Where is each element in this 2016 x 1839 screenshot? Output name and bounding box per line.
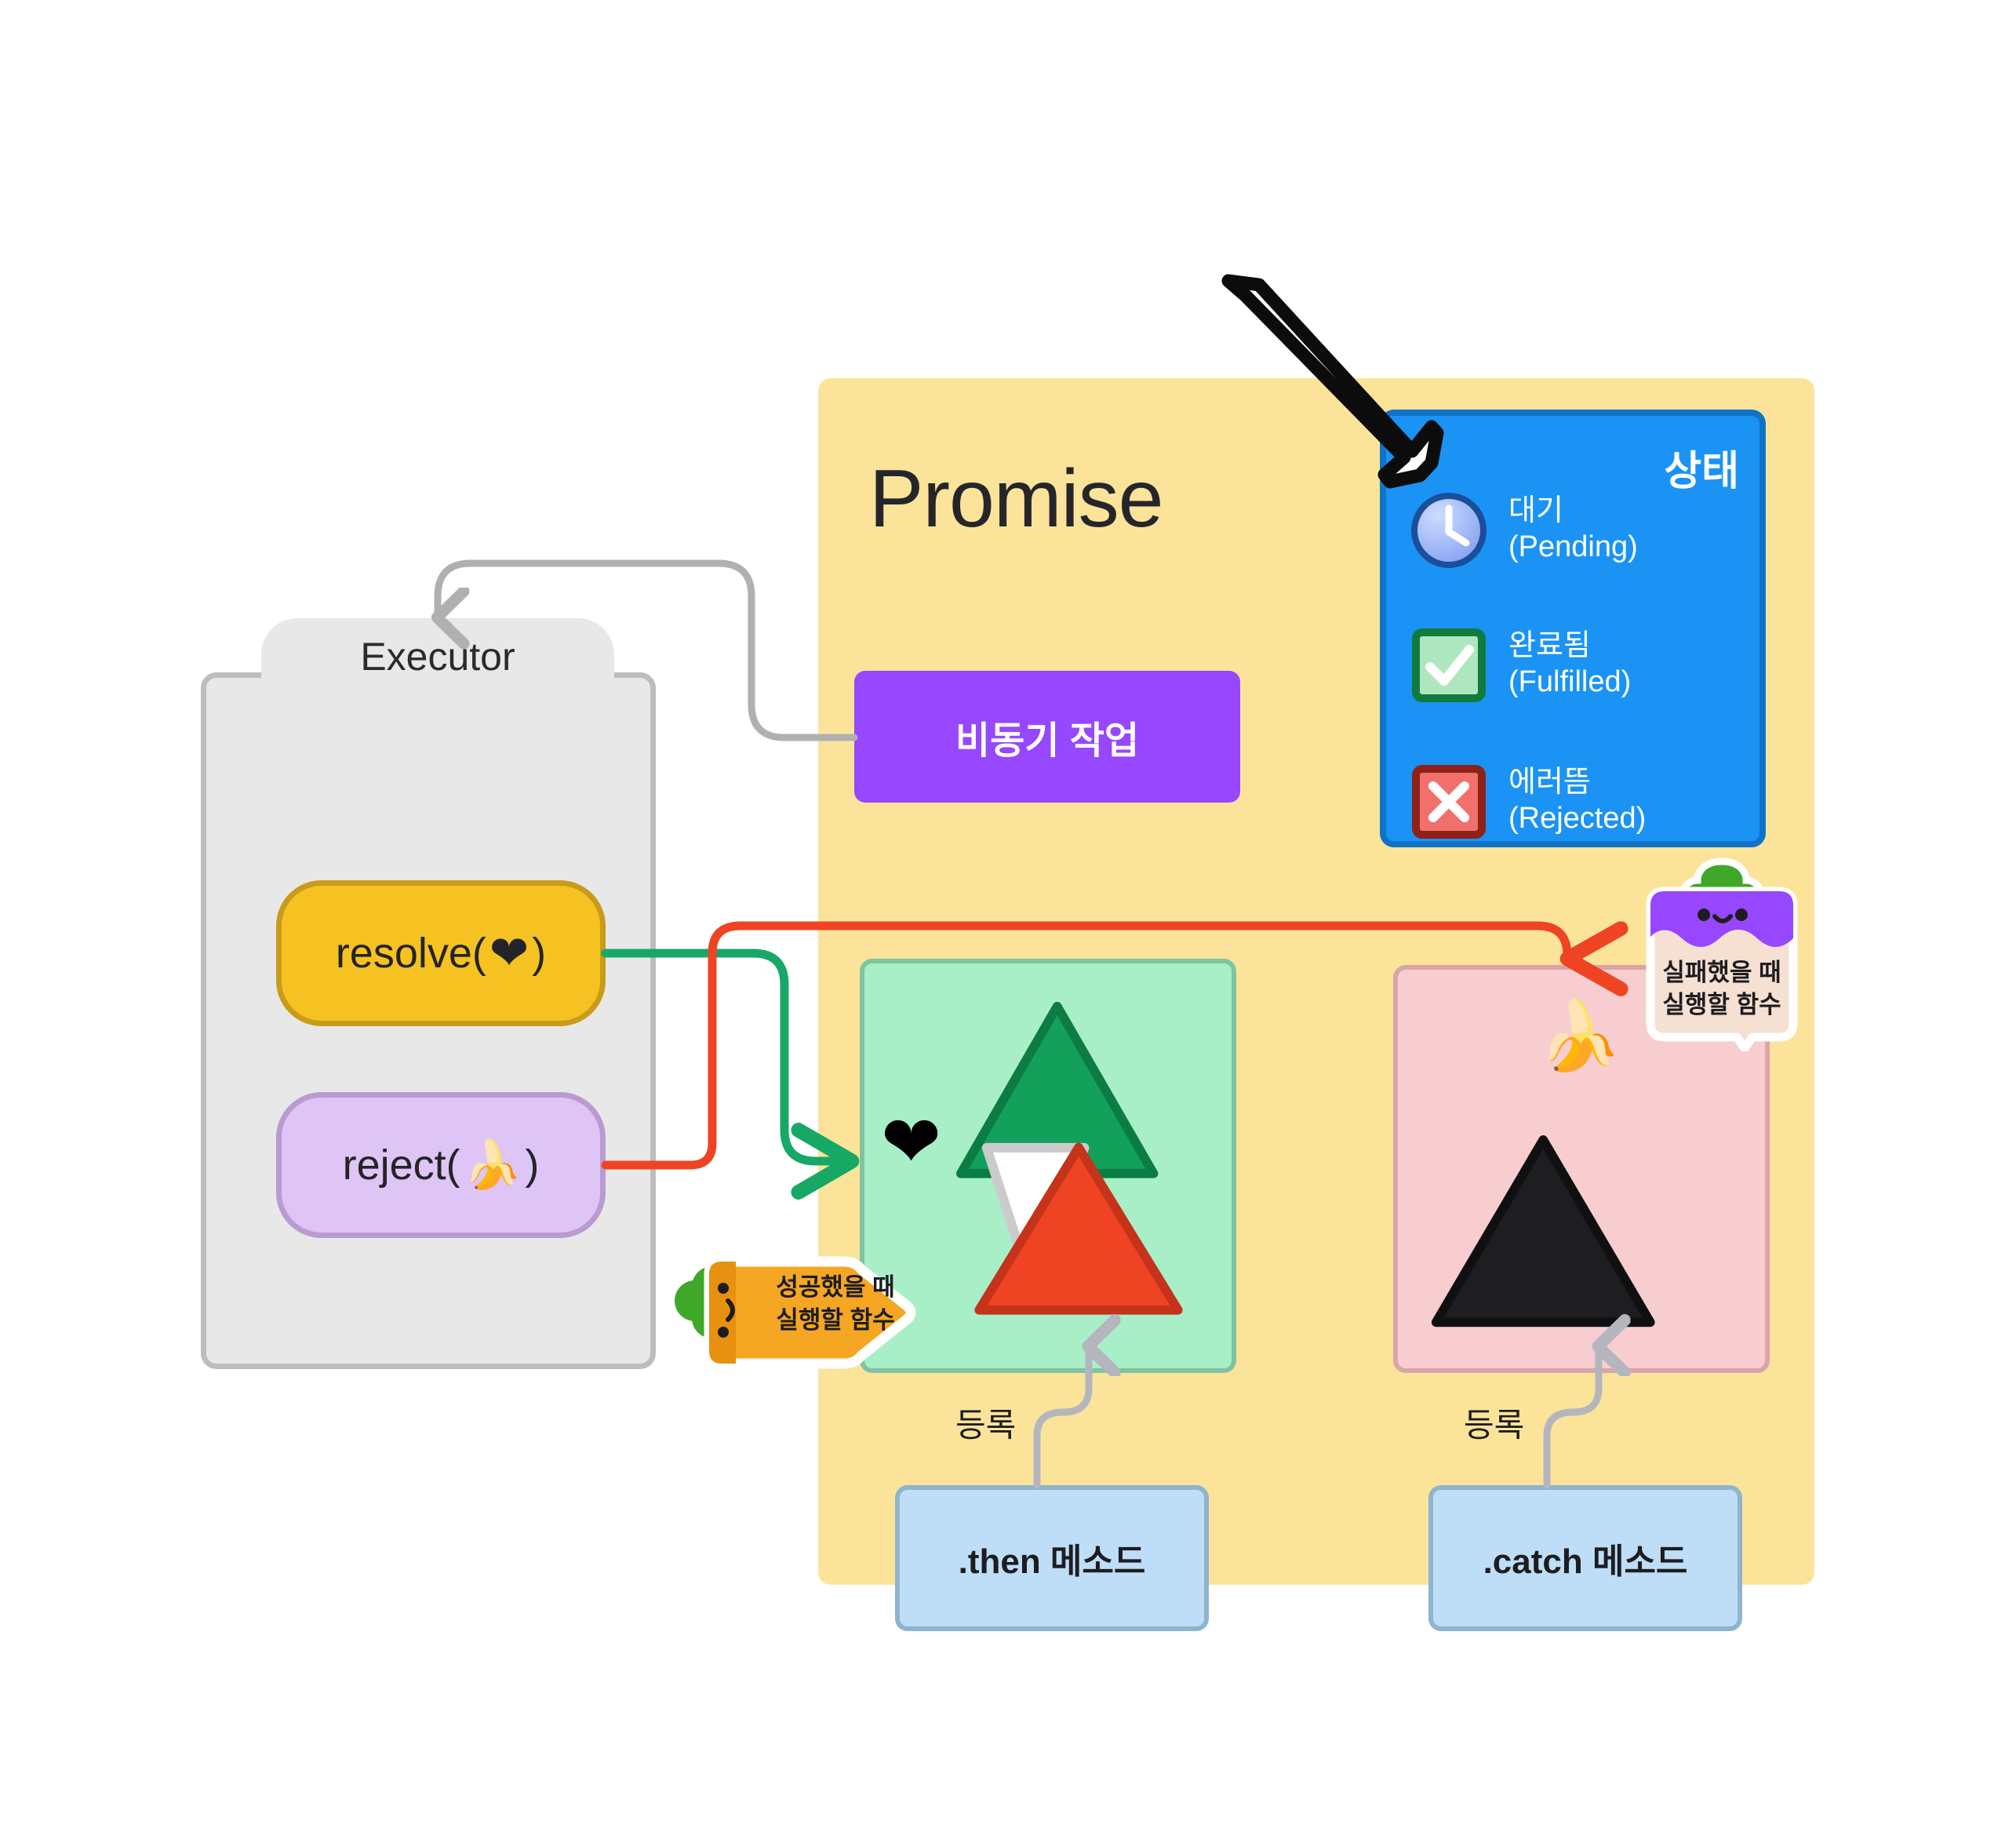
status-heading: 상태 xyxy=(1664,438,1739,497)
executor-tab: Executor xyxy=(261,618,614,752)
status-english-pending: (Pending) xyxy=(1508,529,1638,565)
status-english-rejected: (Rejected) xyxy=(1508,800,1646,836)
resolve-suffix: ) xyxy=(532,929,546,978)
banana-peel-emoji: 🍌 xyxy=(1537,1003,1621,1070)
status-text-fulfilled: 완료됨 (Fulfilled) xyxy=(1508,626,1631,701)
resolve-callback[interactable]: resolve( ❤ ) xyxy=(276,880,606,1026)
reject-label: reject( 🍌 ) xyxy=(343,1141,540,1189)
catch-callout-text: 실패했을 때 실행할 함수 xyxy=(1643,957,1801,1021)
status-english-fulfilled: (Fulfilled) xyxy=(1508,664,1631,700)
then-callout-line1: 성공했을 때 xyxy=(769,1271,902,1304)
page-title: Promise xyxy=(869,444,1340,554)
turnip-callout-shape xyxy=(1627,857,1817,1051)
then-callout-text: 성공했을 때 실행할 함수 xyxy=(769,1271,902,1337)
catch-method-box[interactable]: .catch 메소드 xyxy=(1428,1485,1742,1631)
register-label-catch: 등록 xyxy=(1464,1399,1524,1447)
reject-suffix: ) xyxy=(525,1141,539,1189)
catch-callout-line2: 실행할 함수 xyxy=(1643,989,1801,1021)
status-row-rejected: 에러뜸 (Rejected) xyxy=(1410,763,1646,841)
catch-callout: 실패했을 때 실행할 함수 xyxy=(1627,857,1817,1051)
async-task-box[interactable]: 비동기 작업 xyxy=(854,671,1240,803)
catch-callout-line1: 실패했을 때 xyxy=(1643,957,1801,989)
reject-prefix: reject( xyxy=(343,1141,460,1189)
then-method-box[interactable]: .then 메소드 xyxy=(895,1485,1209,1631)
resolve-label: resolve( ❤ ) xyxy=(336,929,546,978)
status-text-pending: 대기 (Pending) xyxy=(1508,491,1638,566)
status-box: 상태 대기 (Pending) 완료됨 (Fulfill xyxy=(1380,410,1766,847)
cross-box-icon xyxy=(1410,763,1488,841)
status-korean-pending: 대기 xyxy=(1508,493,1638,529)
async-task-label: 비동기 작업 xyxy=(955,709,1139,764)
resolve-prefix: resolve( xyxy=(336,929,486,978)
status-row-fulfilled: 완료됨 (Fulfilled) xyxy=(1410,626,1631,705)
register-label-then: 등록 xyxy=(955,1399,1016,1447)
executor-tab-label: Executor xyxy=(261,618,614,695)
then-callout: 성공했을 때 실행할 함수 xyxy=(673,1240,924,1386)
status-row-pending: 대기 (Pending) xyxy=(1410,491,1638,570)
banana-peel-emoji: 🍌 xyxy=(464,1142,522,1189)
smiling-heart-emoji: ❤ xyxy=(881,1106,941,1178)
check-box-icon xyxy=(1410,626,1488,705)
reject-callback[interactable]: reject( 🍌 ) xyxy=(276,1092,606,1238)
catch-method-label: .catch 메소드 xyxy=(1483,1533,1688,1583)
status-korean-fulfilled: 완료됨 xyxy=(1508,628,1631,664)
smiling-heart-emoji: ❤ xyxy=(489,930,529,977)
status-text-rejected: 에러뜸 (Rejected) xyxy=(1508,763,1646,837)
clock-icon xyxy=(1410,491,1488,570)
status-korean-rejected: 에러뜸 xyxy=(1508,764,1646,800)
then-callout-line2: 실행할 함수 xyxy=(769,1304,902,1337)
then-method-label: .then 메소드 xyxy=(959,1533,1146,1583)
